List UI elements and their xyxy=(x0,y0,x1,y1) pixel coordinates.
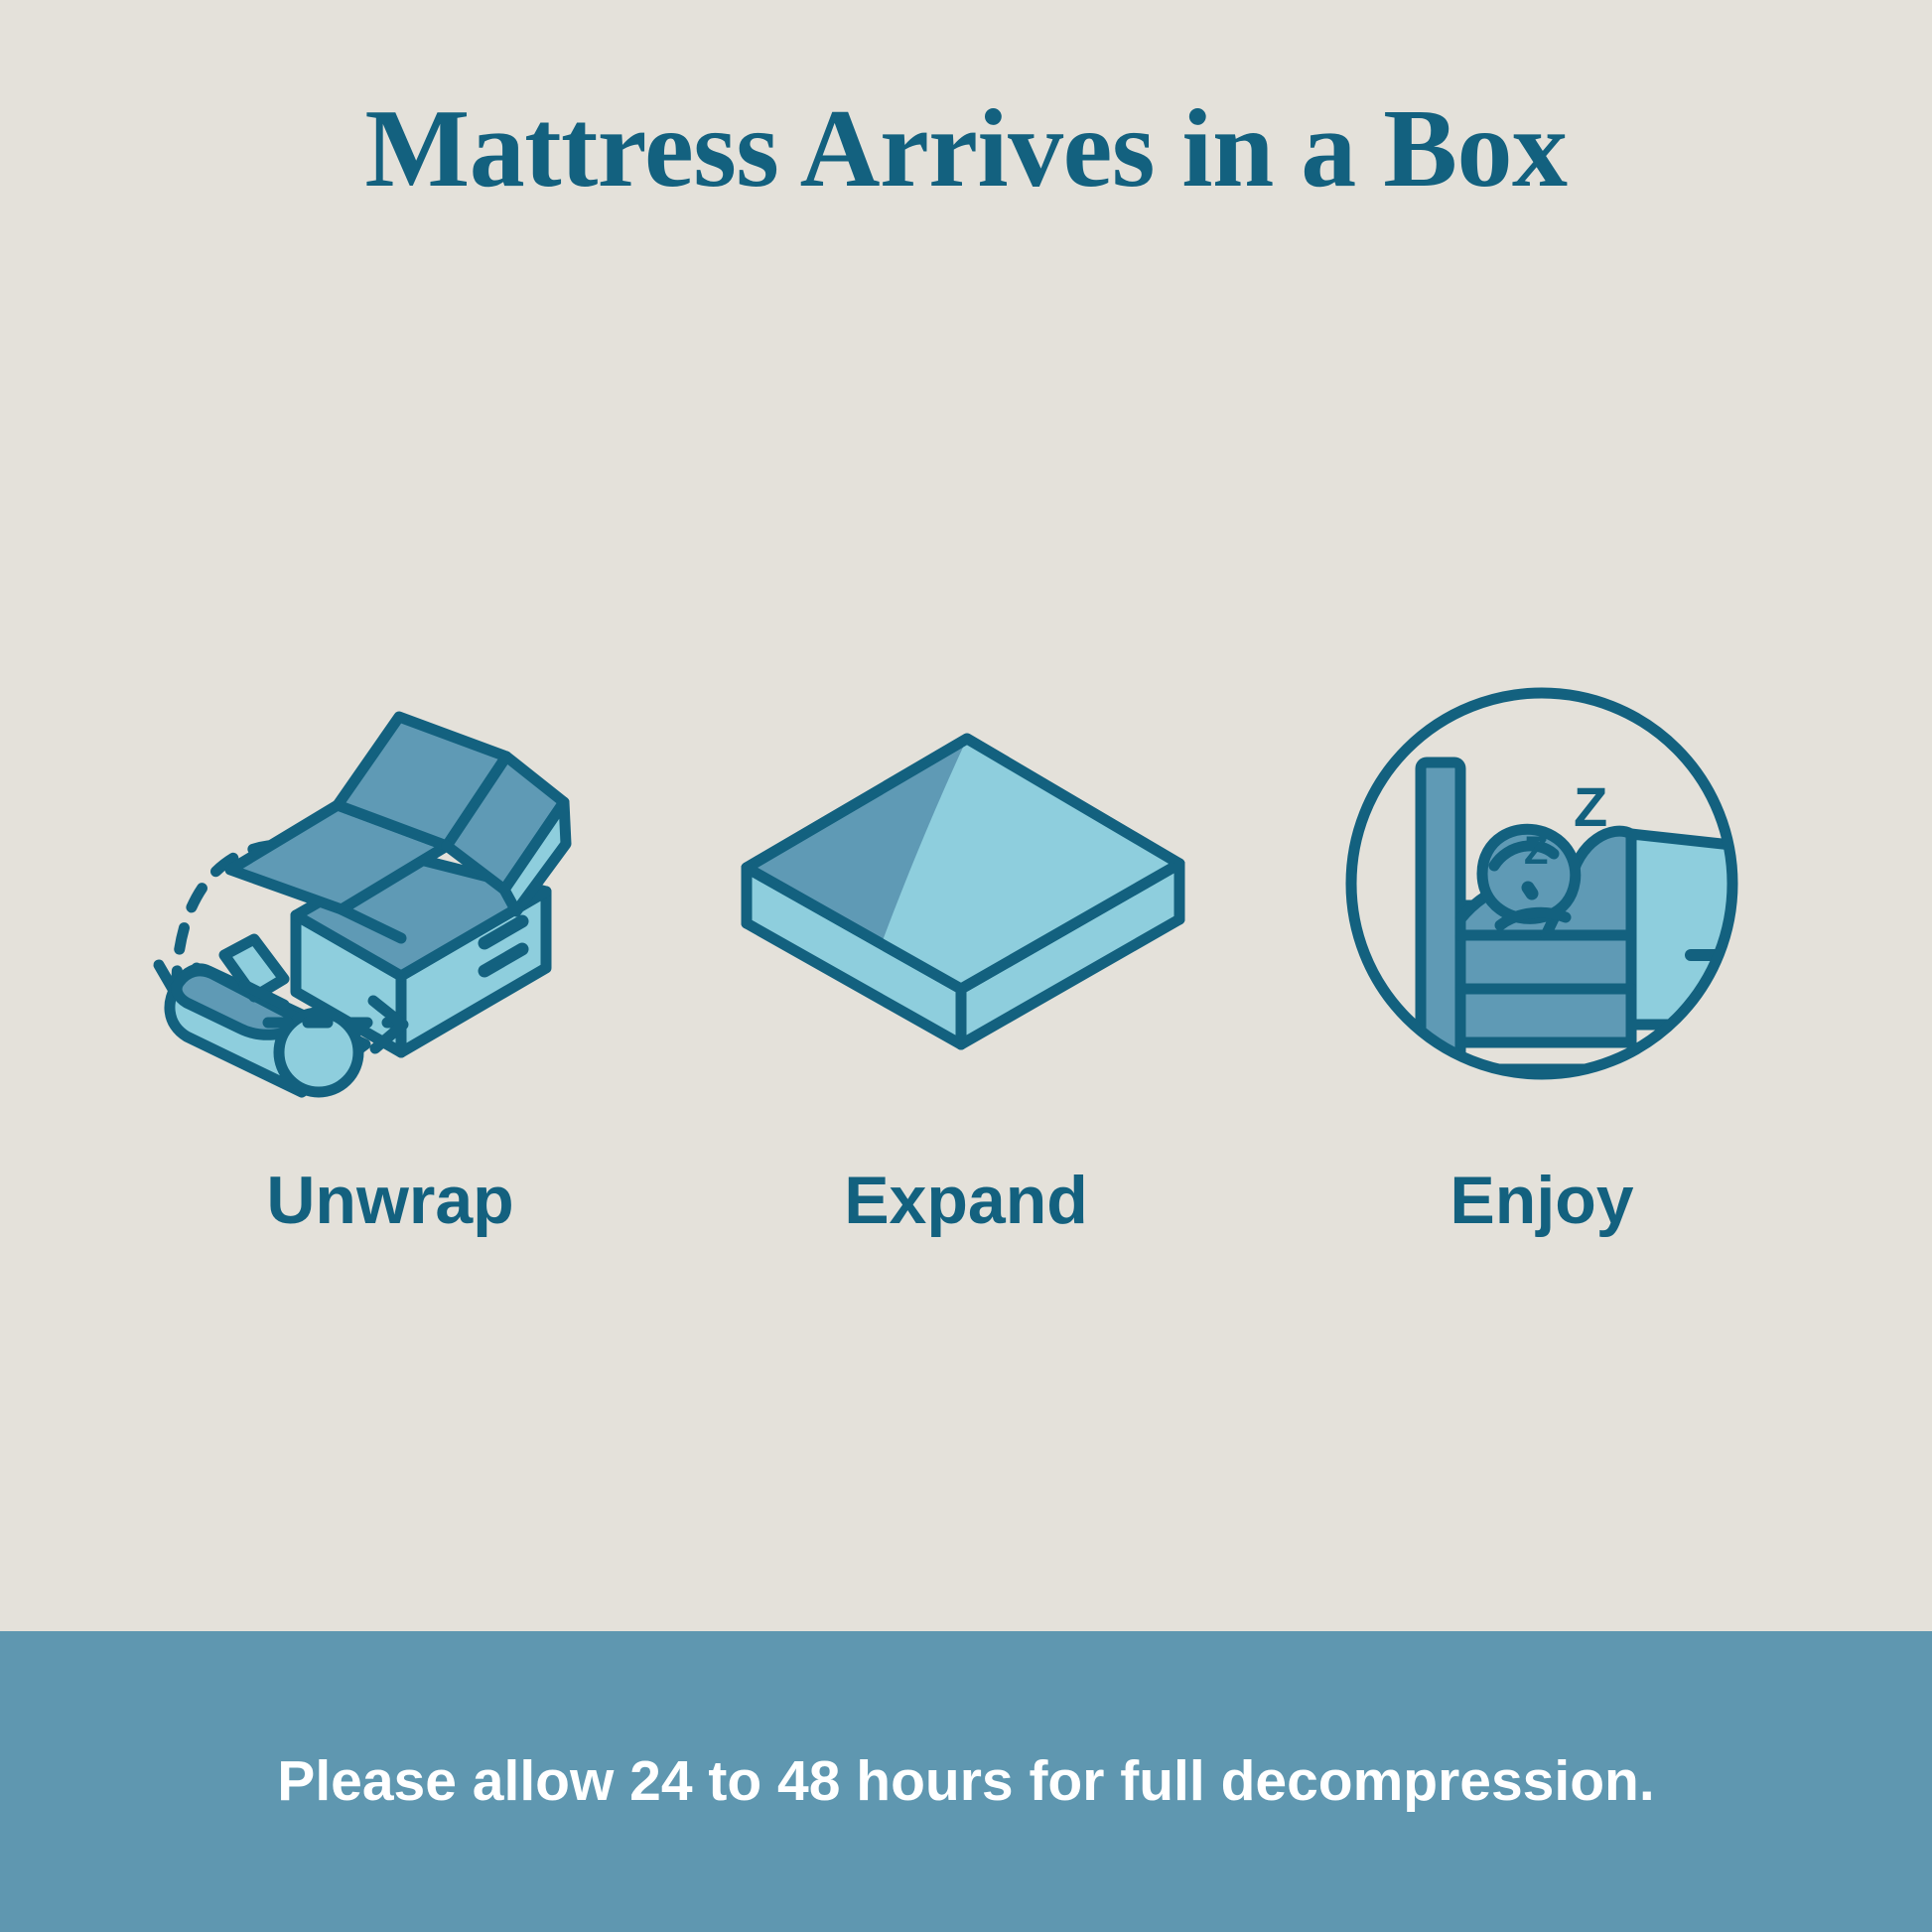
step-label-expand: Expand xyxy=(678,1167,1254,1234)
step-unwrap xyxy=(102,675,678,1092)
sleeping-person-in-bed-icon: Z Z xyxy=(1333,675,1750,1092)
footer-banner-text: Please allow 24 to 48 hours for full dec… xyxy=(277,1747,1654,1815)
step-label-cell-enjoy: Enjoy xyxy=(1254,1167,1830,1234)
step-expand-art xyxy=(733,675,1199,1092)
steps-row: Z Z xyxy=(0,616,1932,1092)
step-label-enjoy: Enjoy xyxy=(1254,1167,1830,1234)
step-enjoy: Z Z xyxy=(1254,675,1830,1092)
flat-mattress-icon xyxy=(733,695,1199,1092)
sleeper-eye xyxy=(1528,888,1532,894)
step-label-cell-unwrap: Unwrap xyxy=(102,1167,678,1234)
page-title: Mattress Arrives in a Box xyxy=(364,93,1567,205)
step-enjoy-art: Z Z xyxy=(1333,675,1750,1092)
sleep-mark-z-small: Z xyxy=(1524,829,1548,873)
sleep-mark-z-large: Z xyxy=(1574,775,1607,838)
step-unwrap-art xyxy=(157,675,623,1092)
title-section: Mattress Arrives in a Box xyxy=(0,0,1932,298)
infographic-page: Mattress Arrives in a Box xyxy=(0,0,1932,1932)
step-label-cell-expand: Expand xyxy=(678,1167,1254,1234)
open-box-with-rolled-mattress-icon xyxy=(157,695,623,1092)
step-expand xyxy=(678,675,1254,1092)
step-label-unwrap: Unwrap xyxy=(102,1167,678,1234)
step-labels-row: Unwrap Expand Enjoy xyxy=(0,1167,1932,1234)
footer-banner: Please allow 24 to 48 hours for full dec… xyxy=(0,1631,1932,1932)
